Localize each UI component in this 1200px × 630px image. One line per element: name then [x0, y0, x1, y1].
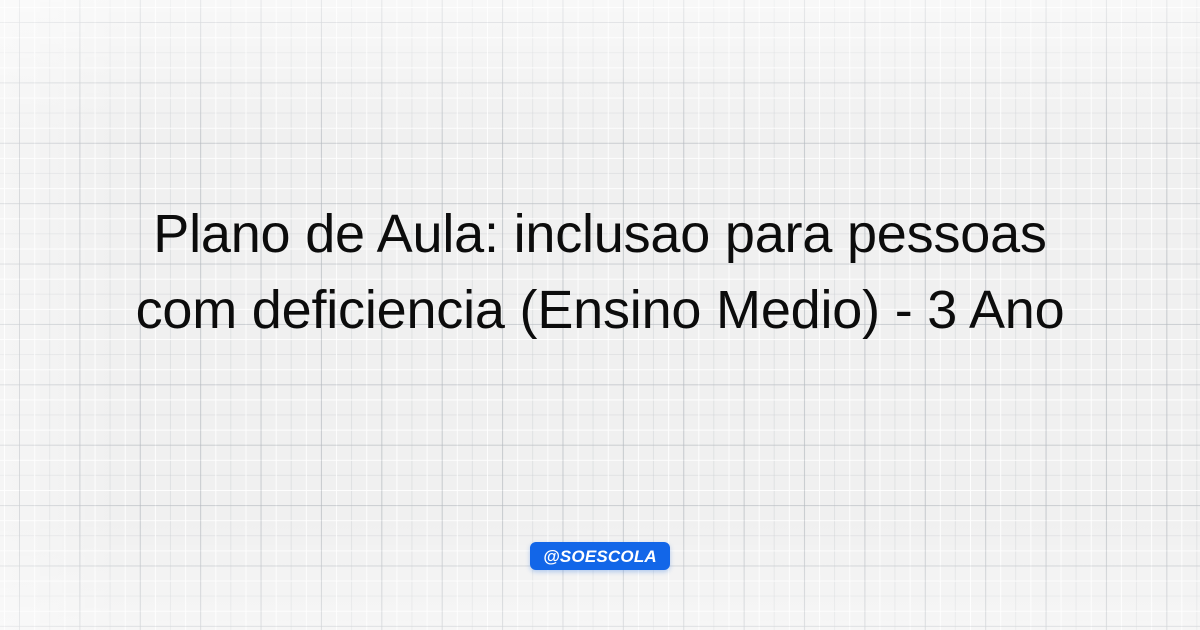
soescola-badge[interactable]: @SOESCOLA: [530, 542, 670, 570]
share-card: Plano de Aula: inclusao para pessoas com…: [0, 0, 1200, 630]
page-title: Plano de Aula: inclusao para pessoas com…: [0, 196, 1200, 348]
page-title-line-1: Plano de Aula: inclusao para pessoas: [8, 196, 1192, 272]
page-title-line-2: com deficiencia (Ensino Medio) - 3 Ano: [8, 272, 1192, 348]
branding-badge-row: @SOESCOLA: [0, 542, 1200, 570]
soescola-badge-label: @SOESCOLA: [543, 548, 657, 565]
